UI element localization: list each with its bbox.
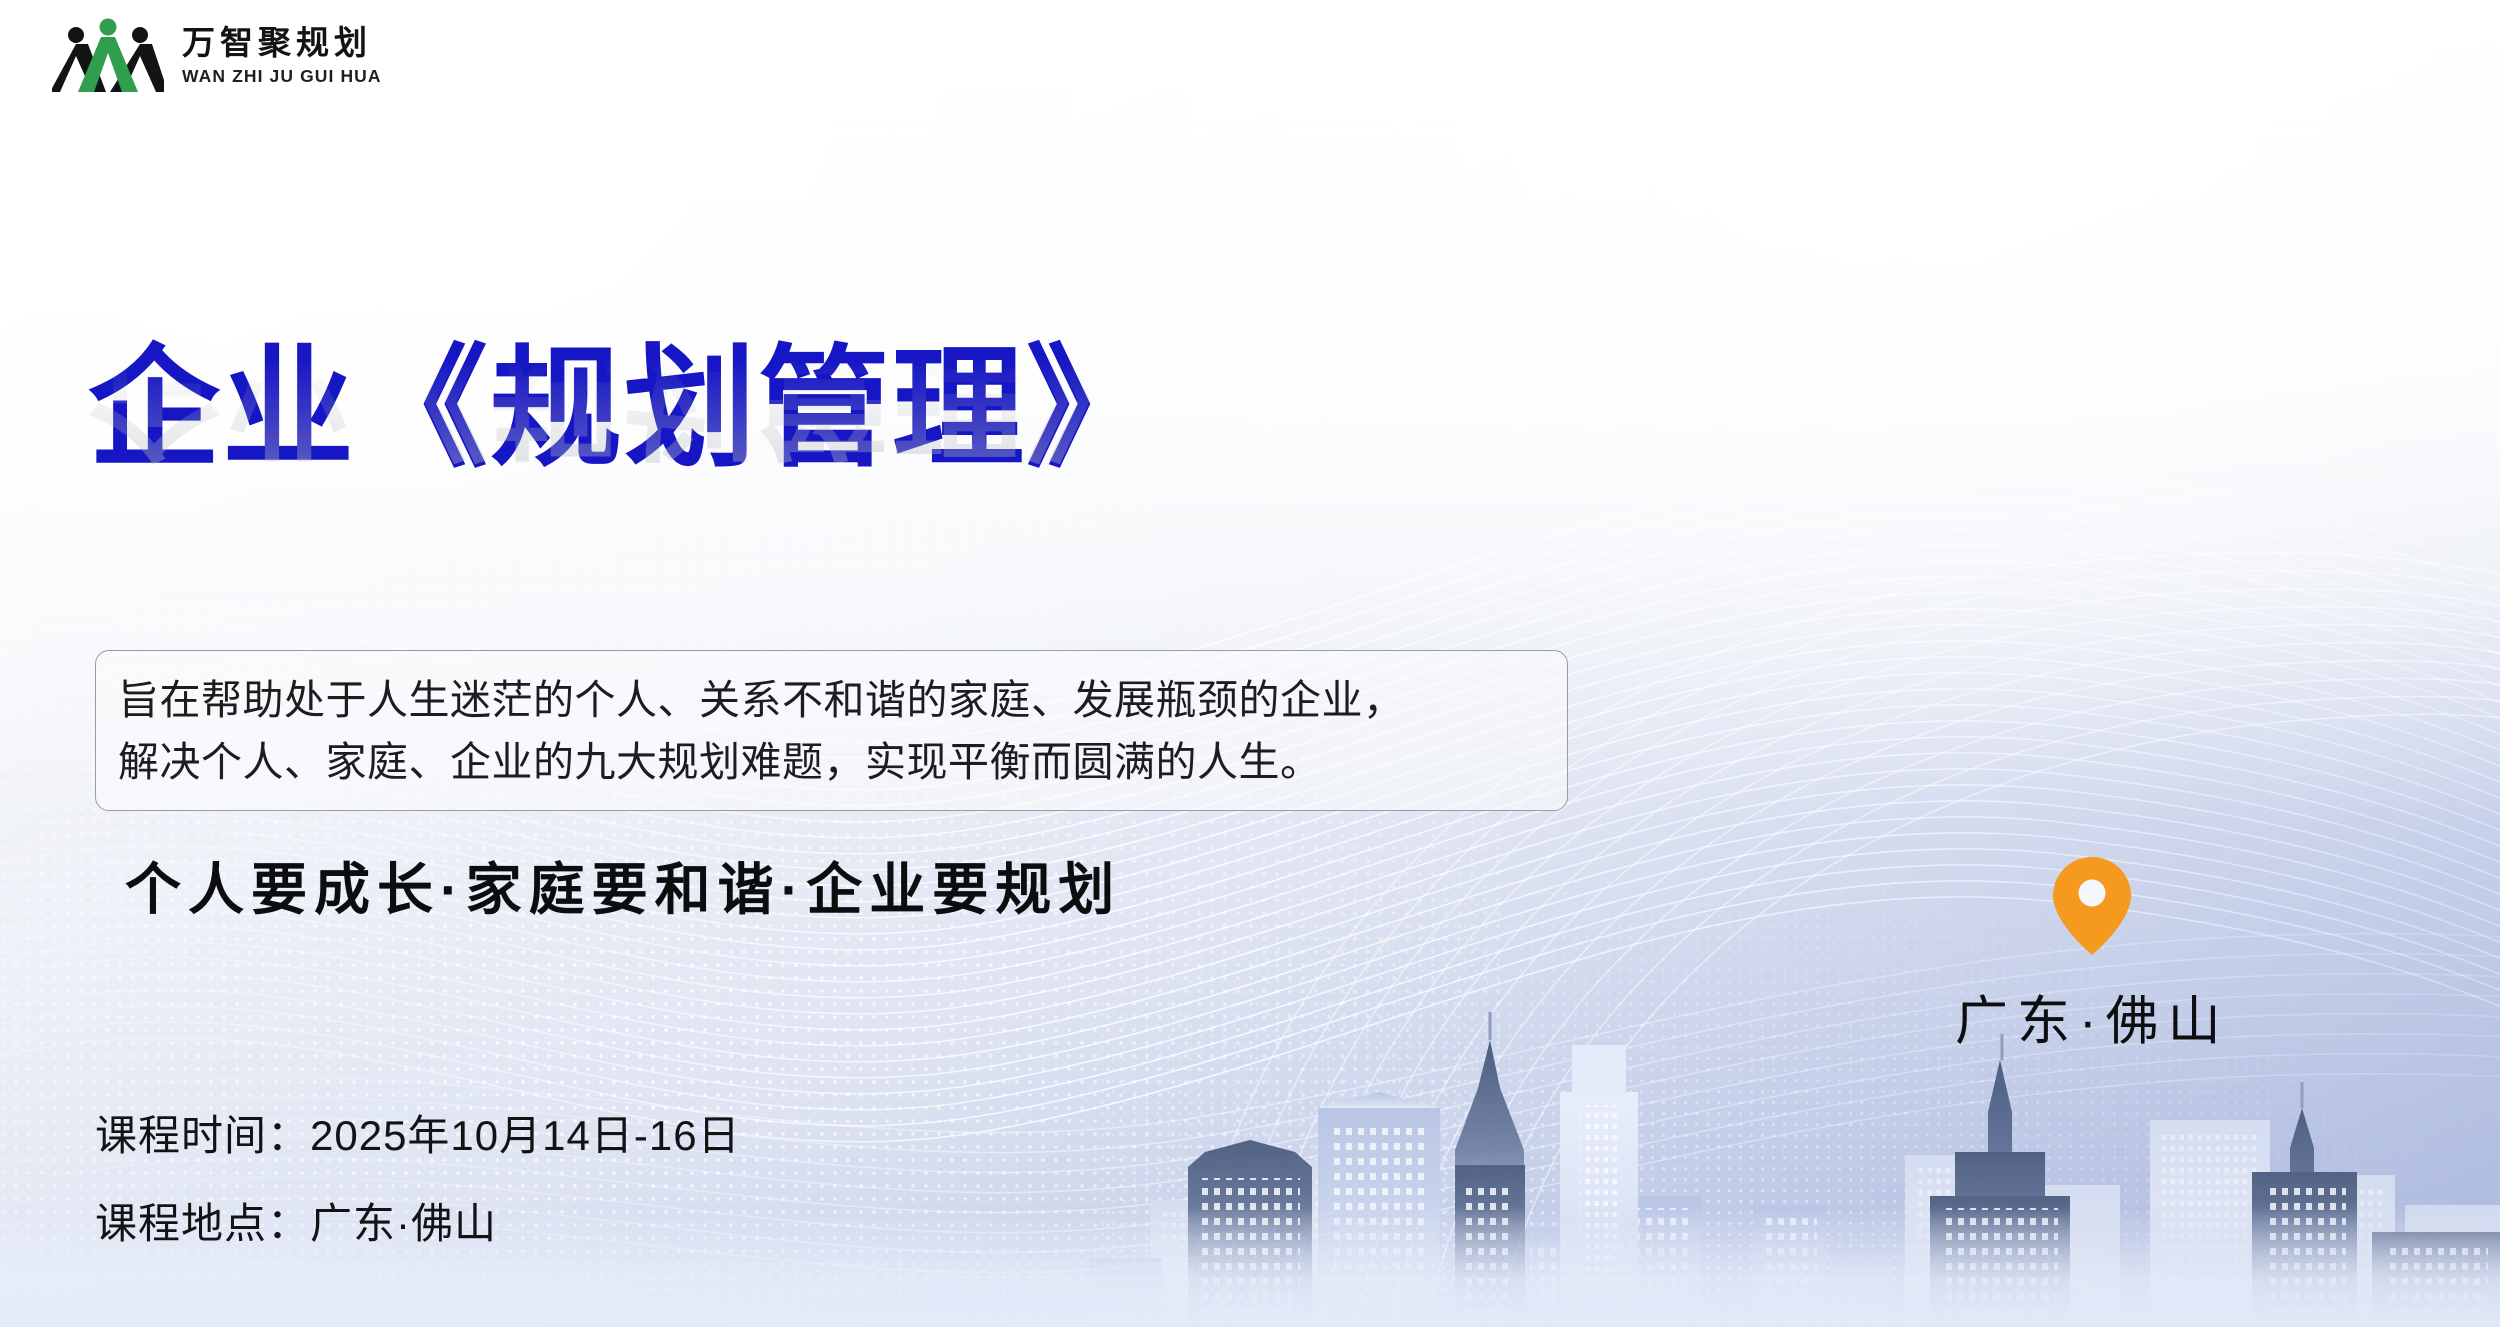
brand-logo: 万智聚规划 WAN ZHI JU GUI HUA bbox=[52, 18, 382, 96]
title-reflection: 企业《规划管理》 bbox=[88, 308, 1160, 482]
tagline: 个人要成长·家庭要和谐·企业要规划 bbox=[125, 845, 1121, 926]
location-label: 广东·佛山 bbox=[1955, 979, 2230, 1055]
three-people-logo-icon bbox=[52, 18, 164, 96]
brand-name-cn: 万智聚规划 bbox=[182, 27, 382, 63]
map-pin-icon bbox=[2051, 855, 2133, 957]
hero-title-block: 企业《规划管理》 企业《规划管理》 bbox=[88, 322, 1160, 656]
course-info-block: 课程时间：2025年10月14日-16日 课程地点：广东·佛山 bbox=[95, 1115, 741, 1245]
brand-logo-text: 万智聚规划 WAN ZHI JU GUI HUA bbox=[182, 27, 382, 88]
brand-name-pinyin: WAN ZHI JU GUI HUA bbox=[182, 66, 382, 87]
course-place: 课程地点：广东·佛山 bbox=[95, 1203, 741, 1245]
course-time: 课程时间：2025年10月14日-16日 bbox=[95, 1115, 741, 1157]
description-line-1: 旨在帮助处于人生迷茫的个人、关系不和谐的家庭、发展瓶颈的企业， bbox=[118, 669, 1545, 731]
poster-canvas: 万智聚规划 WAN ZHI JU GUI HUA 企业《规划管理》 企业《规划管… bbox=[0, 0, 2500, 1327]
location-block: 广东·佛山 bbox=[1955, 855, 2230, 1055]
description-line-2: 解决个人、家庭、企业的九大规划难题，实现平衡而圆满的人生。 bbox=[118, 731, 1545, 793]
description-box: 旨在帮助处于人生迷茫的个人、关系不和谐的家庭、发展瓶颈的企业， 解决个人、家庭、… bbox=[95, 650, 1568, 811]
